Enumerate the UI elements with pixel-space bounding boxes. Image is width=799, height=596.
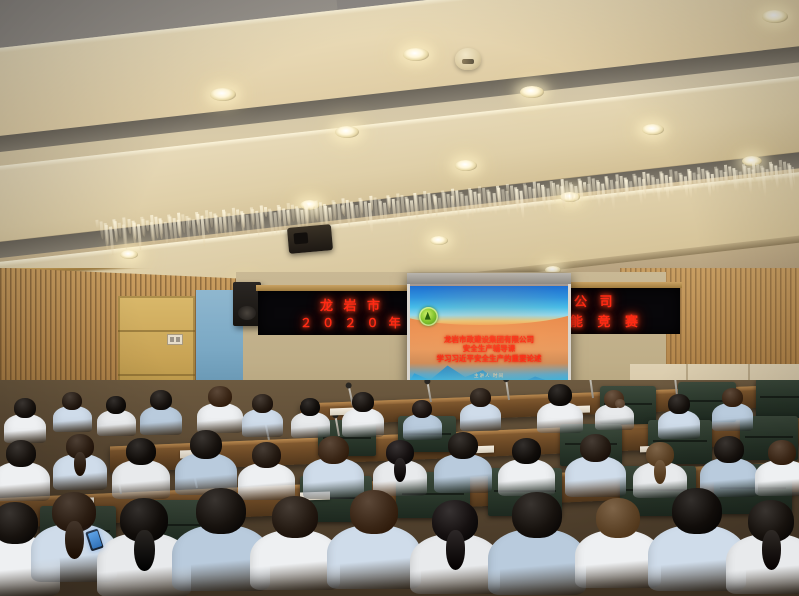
attendee-head: [352, 392, 374, 412]
attendee-head: [6, 440, 36, 467]
smoke-detector-icon: [455, 48, 481, 70]
attendee-head: [448, 432, 478, 459]
conference-room-photo: 龙 岩 市 ２ ０ ２ ０ 年 公 司 能 竞 赛 龙岩市政建设集团有限公司 安…: [0, 0, 799, 596]
led-banner-left: 龙 岩 市 ２ ０ ２ ０ 年: [258, 291, 414, 335]
attendee-torso: [488, 529, 586, 596]
attendee-torso: [712, 403, 753, 431]
slide-subtitle: 主讲人 时间: [410, 373, 568, 379]
attendee-ponytail: [74, 452, 86, 476]
attendee-ponytail: [134, 530, 154, 572]
audience-seating: [0, 380, 799, 596]
light-switch-plate[interactable]: [167, 334, 183, 345]
downlight-3: [455, 160, 477, 171]
crystal-bead: [506, 184, 510, 194]
attendee-torso: [0, 462, 50, 501]
downlight-9: [762, 10, 788, 23]
attendee-head: [252, 394, 273, 413]
attendee-head: [106, 396, 126, 414]
downlight-7: [642, 124, 664, 135]
attendee-torso: [197, 403, 244, 433]
ceiling-projector: [287, 224, 333, 254]
downlight-2: [335, 126, 359, 138]
attendee-torso: [342, 408, 385, 437]
attendee-head: [350, 490, 398, 534]
crystal-bead: [264, 207, 268, 217]
attendee-head: [318, 436, 349, 464]
attendee-head: [512, 492, 562, 538]
attendee-torso: [434, 454, 493, 493]
led-banner-right-line1: 公 司: [574, 291, 617, 310]
attendee-torso: [291, 412, 330, 438]
led-banner-left-line2: ２ ０ ２ ０ 年: [300, 314, 404, 331]
crystal-bead: [674, 171, 678, 182]
led-banner-left-line1: 龙 岩 市: [320, 295, 383, 314]
attendee-torso: [53, 406, 92, 432]
screen-roller-bar: [407, 273, 571, 284]
attendee-head: [208, 386, 232, 407]
crystal-bead: [629, 181, 634, 199]
attendee-head: [300, 398, 320, 416]
downlight-6: [520, 86, 544, 98]
attendee-torso: [140, 406, 183, 435]
downlight-5: [403, 48, 429, 61]
attendee-head: [548, 384, 572, 406]
slide-title-line2: 安全生产辅导课: [410, 344, 568, 354]
crystal-bead: [437, 198, 441, 211]
attendee-head: [150, 390, 172, 410]
attendee-torso: [4, 414, 47, 443]
attendee-ponytail: [762, 530, 781, 570]
attendee-head: [14, 398, 36, 418]
attendee-head: [672, 488, 722, 534]
attendee-head: [596, 498, 640, 538]
attendee-head: [470, 388, 491, 407]
attendee-head: [668, 394, 690, 414]
attendee-ponytail: [654, 460, 666, 484]
downlight-1: [210, 88, 236, 101]
crystal-bead: [556, 184, 560, 196]
attendee-hair-bun: [615, 399, 625, 407]
company-logo-icon: [419, 307, 438, 326]
attendee-torso: [658, 410, 701, 439]
crystal-bead: [127, 219, 131, 234]
attendee-head: [722, 388, 743, 407]
attendee-head: [714, 436, 744, 463]
attendee-ponytail: [394, 458, 406, 482]
attendee-ponytail: [446, 530, 465, 570]
attendee-head: [196, 488, 246, 534]
attendee-head: [126, 438, 156, 465]
attendee-torso: [327, 525, 421, 589]
attendee-torso: [595, 404, 634, 430]
attendee-torso: [403, 414, 442, 440]
attendee: [748, 500, 799, 596]
crystal-bead: [505, 191, 510, 218]
attendee-ponytail: [65, 521, 83, 559]
attendee-head: [768, 440, 796, 465]
attendee-head: [252, 442, 281, 468]
attendee-head: [580, 434, 611, 462]
attendee-head: [62, 392, 82, 410]
led-banner-right-line2: 能 竞 赛: [570, 311, 643, 330]
attendee-head: [190, 430, 222, 459]
attendee-torso: [565, 456, 625, 497]
attendee-head: [0, 502, 38, 544]
led-banner-right: 公 司 能 竞 赛: [562, 288, 680, 334]
attendee-torso: [460, 403, 501, 431]
attendee-head: [512, 438, 541, 464]
slide-title-line3: 学习习近平安全生产的重要论述: [410, 354, 568, 364]
attendee-torso: [537, 402, 584, 434]
attendee-torso: [498, 459, 555, 497]
attendee-head: [272, 496, 318, 538]
attendee-torso: [97, 410, 136, 436]
attendee-head: [412, 400, 432, 418]
